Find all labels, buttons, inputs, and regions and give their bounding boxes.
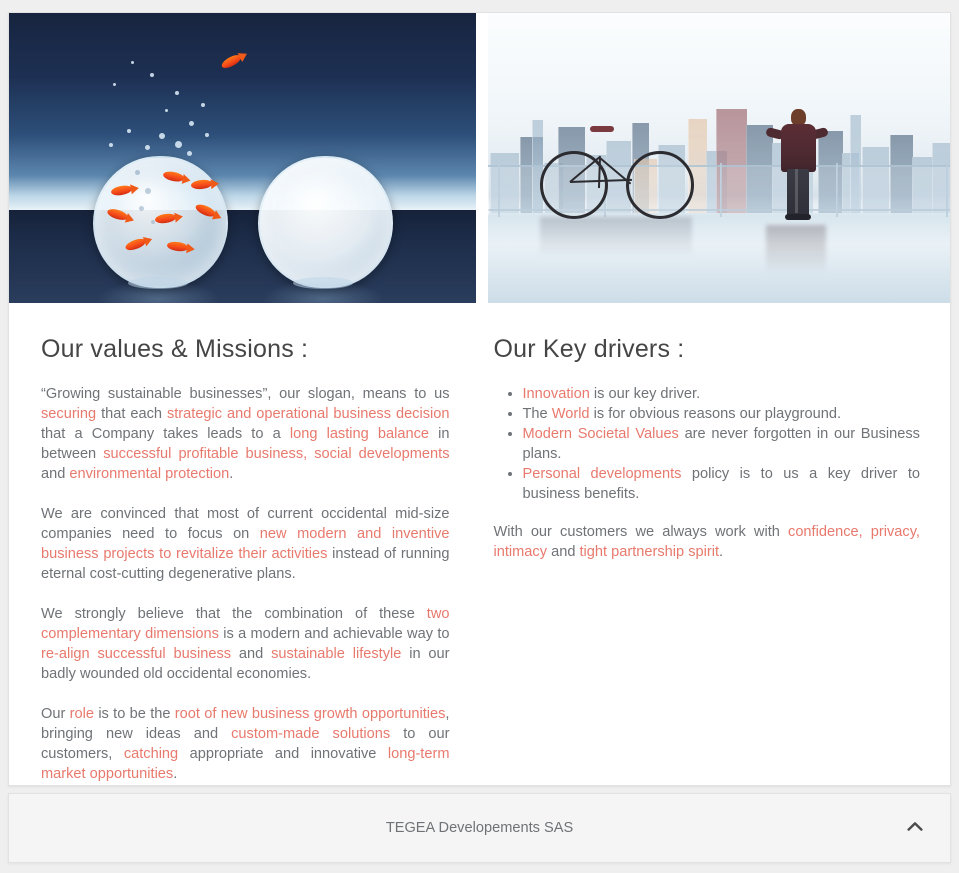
- plain-phrase: We strongly believe that the combination…: [41, 606, 427, 622]
- water-droplet: [201, 103, 205, 107]
- key-drivers-heading: Our Key drivers :: [494, 335, 921, 364]
- accent-phrase: World: [552, 406, 590, 422]
- accent-phrase: successful profitable business, social d…: [103, 446, 449, 462]
- plain-phrase: .: [719, 544, 723, 560]
- paragraph-convinced: We are convinced that most of current oc…: [41, 504, 450, 584]
- accent-phrase: re-align successful business: [41, 646, 231, 662]
- accent-phrase: securing: [41, 406, 96, 422]
- businessman-legs: [787, 169, 809, 217]
- values-missions-heading: Our values & Missions :: [41, 335, 450, 364]
- empty-fishbowl: [258, 156, 393, 288]
- water-droplet: [113, 83, 116, 86]
- accent-phrase: Personal developments: [523, 466, 682, 482]
- businessman-reflection: [766, 225, 826, 273]
- plain-phrase: is our key driver.: [590, 386, 700, 402]
- scroll-to-top-button[interactable]: [902, 815, 928, 841]
- key-drivers-paragraphs: With our customers we always work with c…: [494, 522, 921, 562]
- key-driver-item-innovation: Innovation is our key driver.: [523, 384, 921, 404]
- accent-phrase: Modern Societal Values: [523, 426, 679, 442]
- water-droplet: [205, 133, 209, 137]
- plain-phrase: Our: [41, 706, 70, 722]
- railing-post: [498, 163, 500, 217]
- content-row: Our values & Missions : “Growing sustain…: [9, 303, 950, 804]
- plain-phrase: With our customers we always work with: [494, 524, 789, 540]
- railing-post: [836, 163, 838, 217]
- water-droplet: [189, 121, 194, 126]
- chevron-up-icon: [907, 819, 923, 837]
- railing-post: [720, 163, 722, 217]
- right-media-column: [476, 13, 950, 303]
- accent-phrase: long lasting balance: [290, 426, 429, 442]
- businessman-rooftop-city-skyline-image: [488, 13, 950, 303]
- plain-phrase: is for obvious reasons our playground.: [590, 406, 841, 422]
- water-droplet: [165, 109, 168, 112]
- glass-panel: [720, 167, 837, 215]
- media-row: [9, 13, 950, 303]
- accent-phrase: Innovation: [523, 386, 590, 402]
- plain-phrase: and: [231, 646, 271, 662]
- plain-phrase: that each: [96, 406, 167, 422]
- goldfish-jumping-between-bowls-image: [9, 13, 476, 303]
- bicycle-reflection: [540, 217, 692, 257]
- water-droplet: [131, 61, 134, 64]
- paragraph-customers: With our customers we always work with c…: [494, 522, 921, 562]
- page-root: Our values & Missions : “Growing sustain…: [0, 0, 959, 873]
- key-driver-item-personal-developments: Personal developments policy is to us a …: [523, 464, 921, 504]
- plain-phrase: appropriate and innovative: [178, 746, 388, 762]
- footer-company-name: TEGEA Developements SAS: [386, 820, 573, 836]
- values-and-missions-column: Our values & Missions : “Growing sustain…: [9, 303, 480, 804]
- accent-phrase: root of new business growth opportunitie…: [175, 706, 446, 722]
- bicycle-saddle: [590, 126, 614, 132]
- water-droplet: [159, 133, 165, 139]
- paragraph-believe: We strongly believe that the combination…: [41, 604, 450, 684]
- glass-panel: [836, 167, 950, 215]
- plain-phrase: The: [523, 406, 552, 422]
- crowded-fishbowl: [93, 156, 228, 288]
- accent-phrase: role: [70, 706, 94, 722]
- plain-phrase: .: [229, 466, 233, 482]
- plain-phrase: .: [173, 766, 177, 782]
- water-droplet: [145, 145, 150, 150]
- key-drivers-list: Innovation is our key driver.The World i…: [494, 384, 921, 504]
- water-droplet: [175, 91, 179, 95]
- railing-post: [946, 163, 948, 217]
- key-driver-item-societal-values: Modern Societal Values are never forgott…: [523, 424, 921, 464]
- bicycle-wheel: [626, 151, 694, 219]
- accent-phrase: tight partnership spirit: [580, 544, 720, 560]
- businessman-jacket: [781, 124, 816, 172]
- jumping-goldfish: [220, 51, 247, 72]
- fish-table-surface: [9, 210, 476, 303]
- water-droplet: [109, 143, 113, 147]
- plain-phrase: “Growing sustainable businesses”, our sl…: [41, 386, 450, 402]
- businessman-shoes: [785, 214, 811, 220]
- accent-phrase: environmental protection: [69, 466, 229, 482]
- paragraph-role: Our role is to be the root of new busine…: [41, 704, 450, 784]
- plain-phrase: is to be the: [94, 706, 175, 722]
- plain-phrase: is a modern and achievable way to: [219, 626, 450, 642]
- main-content-card: Our values & Missions : “Growing sustain…: [8, 12, 951, 786]
- accent-phrase: catching: [124, 746, 178, 762]
- accent-phrase: custom-made solutions: [231, 726, 390, 742]
- water-droplet: [187, 151, 192, 156]
- accent-phrase: sustainable lifestyle: [271, 646, 401, 662]
- plain-phrase: and: [547, 544, 579, 560]
- accent-phrase: strategic and operational business decis…: [167, 406, 450, 422]
- water-droplet: [150, 73, 154, 77]
- paragraph-slogan: “Growing sustainable businesses”, our sl…: [41, 384, 450, 484]
- values-missions-paragraphs: “Growing sustainable businesses”, our sl…: [41, 384, 450, 784]
- key-driver-item-world: The World is for obvious reasons our pla…: [523, 404, 921, 424]
- water-droplet: [127, 129, 131, 133]
- key-drivers-column: Our Key drivers : Innovation is our key …: [480, 303, 951, 804]
- plain-phrase: that a Company takes leads to a: [41, 426, 290, 442]
- plain-phrase: and: [41, 466, 69, 482]
- water-droplet: [175, 141, 182, 148]
- left-media-column: [9, 13, 476, 303]
- footer-bar: TEGEA Developements SAS: [8, 793, 951, 863]
